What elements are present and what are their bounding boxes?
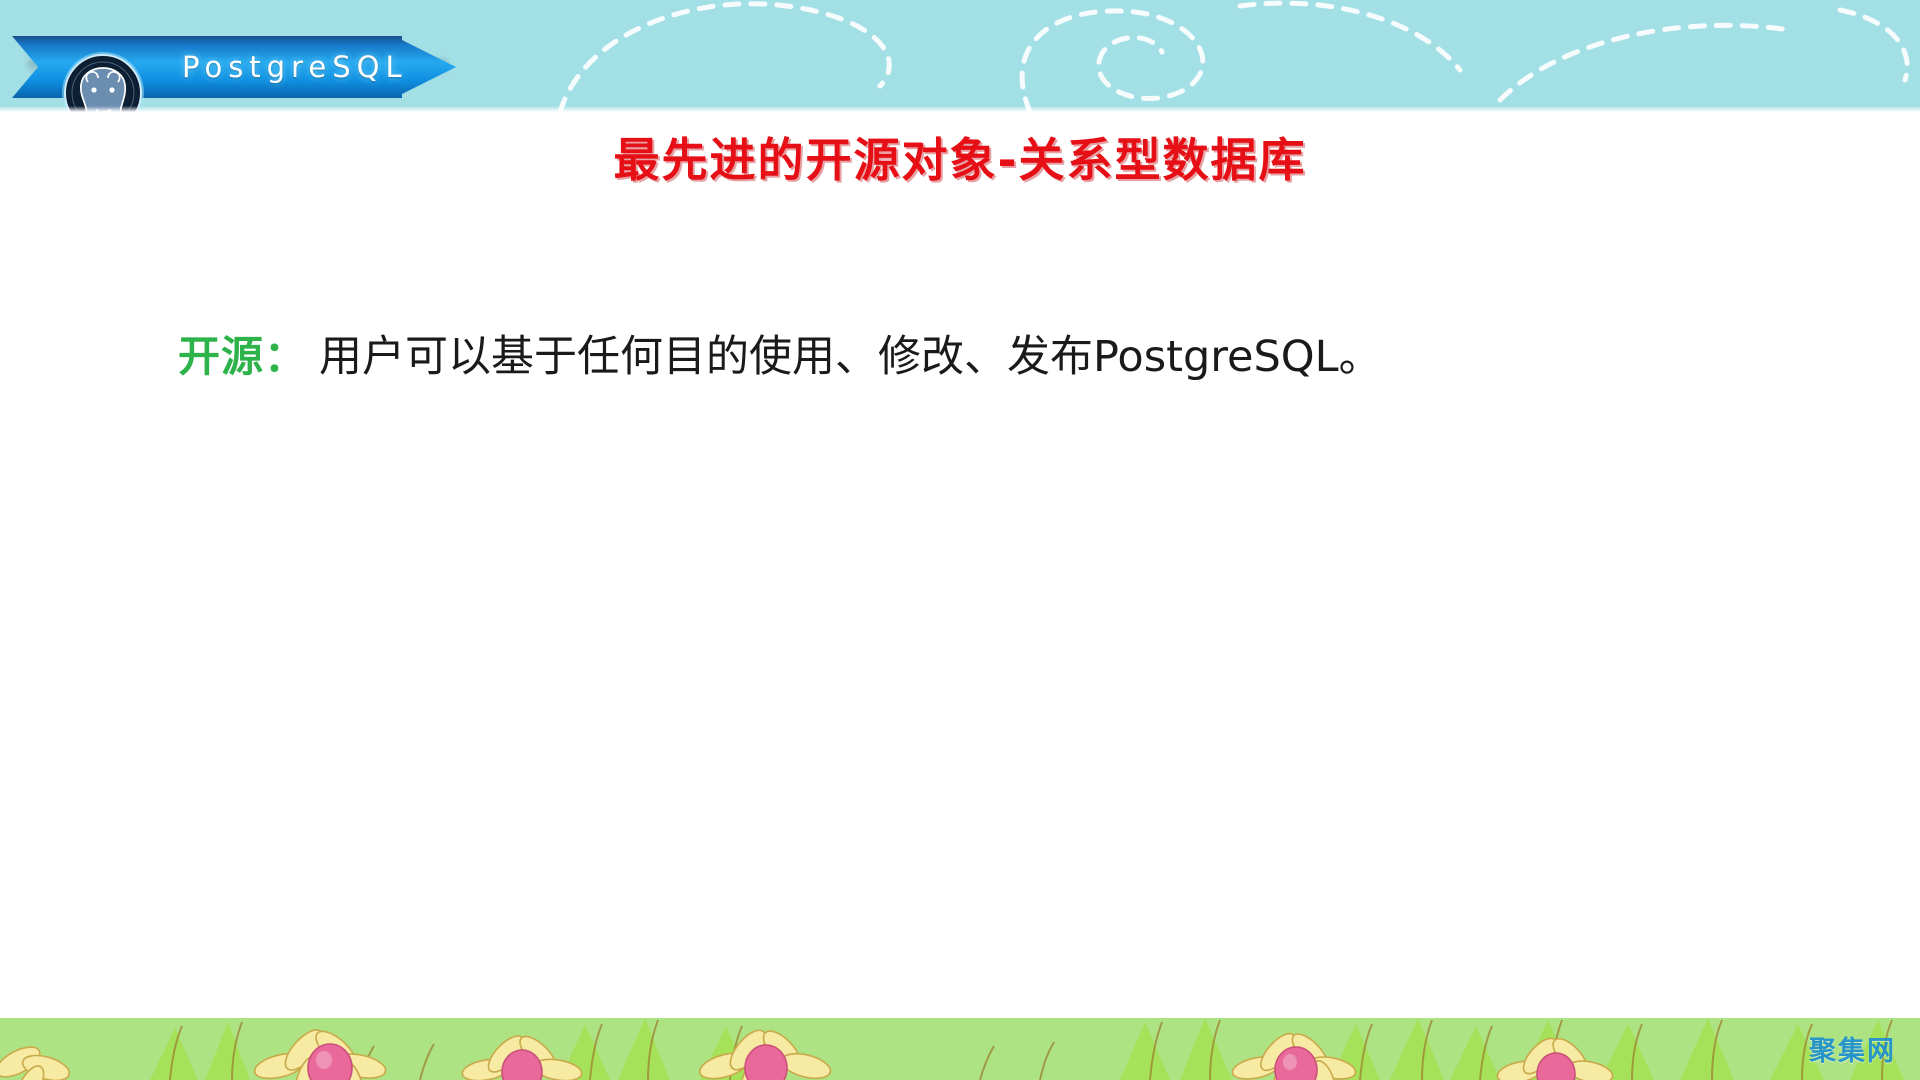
footer-flower-border: 聚集网 xyxy=(0,1018,1920,1080)
header-band: PostgreSQL xyxy=(0,0,1920,112)
bullet-label: 开源： xyxy=(178,323,307,384)
postgresql-wordmark: PostgreSQL xyxy=(182,36,408,98)
header-fade-edge xyxy=(0,106,1920,112)
site-watermark: 聚集网 xyxy=(1809,1029,1896,1068)
slide-canvas: PostgreSQL 最先进的开源对象-关系型数据库 开源： 用户可以基于任何目… xyxy=(0,0,1920,1080)
bullet-description: 用户可以基于任何目的使用、修改、发布PostgreSQL。 xyxy=(319,322,1382,384)
postgresql-logo-banner: PostgreSQL xyxy=(12,36,457,98)
page-title: 最先进的开源对象-关系型数据库 xyxy=(0,124,1920,190)
bullet-item-open-source: 开源： 用户可以基于任何目的使用、修改、发布PostgreSQL。 xyxy=(178,322,1382,384)
sunflower-grass-graphic xyxy=(0,1018,1920,1080)
